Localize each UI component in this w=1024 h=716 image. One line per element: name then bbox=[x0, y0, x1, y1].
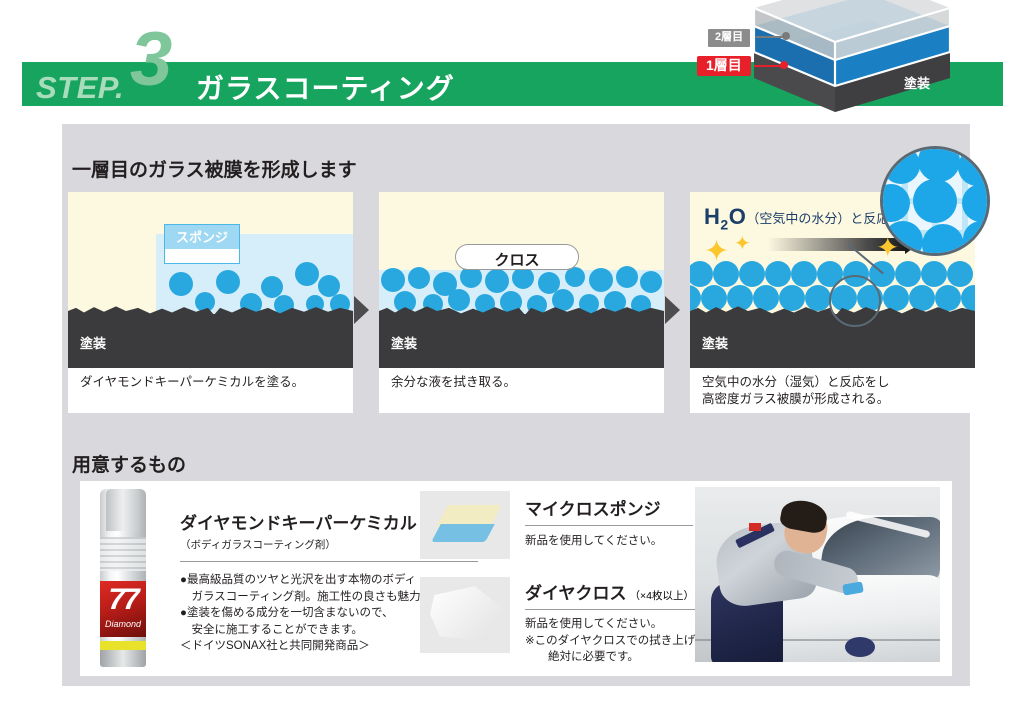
panel3-paint-label: 塗装 bbox=[702, 333, 728, 352]
process-arrow-2 bbox=[665, 296, 680, 324]
process-panel-1: スポンジ 塗装 ダイヤモンドキーパーケミカルを塗る。 bbox=[68, 192, 353, 413]
panel1-sponge-tool: スポンジ bbox=[164, 224, 240, 264]
panel2-paint-label: 塗装 bbox=[391, 333, 417, 352]
sponge-note: 新品を使用してください。 bbox=[525, 533, 695, 550]
page-root: STEP. 3 ガラスコーティング bbox=[0, 0, 1024, 716]
photo-uniform-logo bbox=[749, 523, 761, 531]
layer2-leader-dot bbox=[782, 32, 790, 40]
process-panel-2: クロス 塗装 余分な液を拭き取る。 bbox=[379, 192, 664, 413]
chemical-bottle-image: 77 Diamond bbox=[100, 489, 146, 667]
bottle-cap bbox=[106, 489, 140, 531]
panel3-caption: 空気中の水分（湿気）と反応をし 高密度ガラス被膜が形成される。 bbox=[690, 368, 975, 413]
cube-paint-label: 塗装 bbox=[904, 76, 930, 91]
bottle-brand-text: Diamond bbox=[100, 619, 146, 629]
sponge-divider bbox=[525, 525, 693, 526]
materials-card: 77 Diamond ダイヤモンドキーパーケミカル （ボディガラスコーティング剤… bbox=[80, 481, 952, 676]
panel2-cloth-tool: クロス bbox=[455, 244, 579, 270]
process-arrow-1 bbox=[354, 296, 369, 324]
step-word-label: STEP. bbox=[36, 70, 124, 106]
cloth-title: ダイヤクロス bbox=[525, 579, 627, 604]
technician-photo bbox=[695, 487, 940, 662]
panel2-paint-layer bbox=[379, 314, 664, 368]
magnifier-molecule-lattice bbox=[883, 149, 987, 253]
bottle-base bbox=[100, 650, 146, 667]
sponge-thumbnail bbox=[420, 491, 510, 559]
layer1-label: 1層目 bbox=[697, 56, 751, 76]
panel3-caption-line2: 高密度ガラス被膜が形成される。 bbox=[702, 391, 963, 408]
bottle-yellow-stripe bbox=[100, 641, 146, 650]
cloth-divider bbox=[525, 609, 713, 610]
panel1-paint-label: 塗装 bbox=[80, 333, 106, 352]
cloth-note-line: 新品を使用してください。 bbox=[525, 616, 715, 633]
cloth-image bbox=[430, 585, 502, 641]
cloth-thumbnail bbox=[420, 577, 510, 653]
layer2-label: 2層目 bbox=[708, 29, 750, 47]
panel2-tool-label: クロス bbox=[456, 249, 578, 270]
photo-car-emblem bbox=[845, 637, 875, 657]
cloth-note-line: 絶対に必要です。 bbox=[525, 649, 715, 666]
section2-heading: 用意するもの bbox=[72, 450, 186, 477]
panel1-caption: ダイヤモンドキーパーケミカルを塗る。 bbox=[68, 368, 353, 413]
magnifier-detail-view bbox=[880, 146, 990, 256]
step-title: ガラスコーティング bbox=[196, 67, 455, 107]
bottle-grip-rings bbox=[100, 537, 146, 571]
magnifier-focus-ring bbox=[829, 275, 881, 327]
cloth-note-line: ※このダイヤクロスでの拭き上げが bbox=[525, 633, 715, 650]
cloth-quantity: （×4枚以上） bbox=[630, 588, 694, 603]
layer1-leader-dot bbox=[780, 61, 788, 69]
sponge-image bbox=[434, 505, 496, 545]
step-number-label: 3 bbox=[130, 22, 172, 98]
section1-heading: 一層目のガラス被膜を形成します bbox=[72, 155, 357, 182]
layer-cube-diagram: 塗装 2層目 1層目 bbox=[690, 0, 1024, 122]
panel3-caption-line1: 空気中の水分（湿気）と反応をし bbox=[702, 374, 963, 391]
sponge-blue-face bbox=[431, 524, 495, 542]
panel2-caption: 余分な液を拭き取る。 bbox=[379, 368, 664, 413]
panel3-paint-layer bbox=[690, 314, 975, 368]
bottle-logo-text: 77 bbox=[100, 583, 146, 617]
panel1-tool-label: スポンジ bbox=[165, 227, 239, 246]
panel1-paint-layer bbox=[68, 314, 353, 368]
sponge-title: マイクロスポンジ bbox=[525, 495, 695, 520]
chemical-divider bbox=[180, 561, 478, 562]
